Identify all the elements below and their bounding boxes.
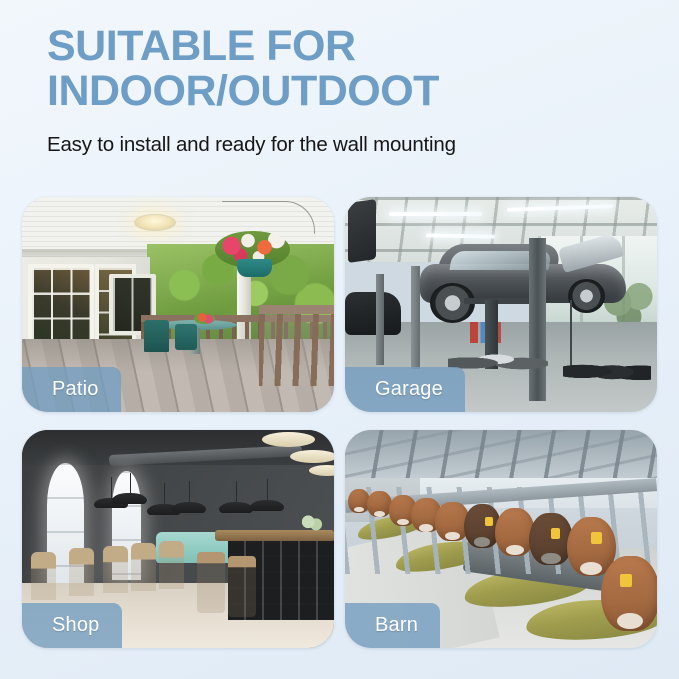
ceiling-wire — [222, 201, 316, 233]
tile-patio[interactable]: Patio — [22, 197, 334, 412]
page-subtitle: Easy to install and ready for the wall m… — [47, 132, 647, 158]
dining-chair — [31, 552, 56, 600]
ear-tag — [485, 517, 493, 526]
patio-chair-left — [144, 320, 169, 352]
fluorescent-tube — [389, 212, 483, 216]
tile-label-patio: Patio — [22, 367, 121, 412]
cow-dark-face — [529, 513, 573, 565]
ear-tag — [591, 532, 602, 544]
dining-chair — [69, 548, 94, 596]
tile-label-shop: Shop — [22, 603, 122, 648]
page-title: SUITABLE FOR INDOOR/OUTDOOT — [47, 24, 647, 114]
barn-roof-structure — [345, 430, 657, 478]
tile-garage[interactable]: Garage — [345, 197, 657, 412]
table-flowers — [194, 313, 216, 324]
fluorescent-tube — [426, 233, 495, 238]
pendant-light — [172, 502, 206, 513]
scene-tile-grid: Patio — [22, 197, 657, 648]
deck-railing-near — [259, 305, 334, 387]
disc-pendant-light — [309, 465, 334, 476]
tile-label-garage: Garage — [345, 367, 465, 412]
dining-chair — [131, 543, 156, 591]
cow-foreground — [601, 556, 657, 630]
lift-post-main — [529, 238, 546, 401]
lift-post-far — [376, 274, 384, 364]
ear-tag — [551, 528, 560, 539]
flower-pot — [237, 259, 271, 276]
lift-arm — [464, 298, 539, 304]
stacked-tires — [563, 356, 650, 384]
counter-plant — [297, 515, 325, 532]
overhead-panel — [348, 199, 376, 263]
bar-stool — [228, 556, 256, 617]
second-vehicle — [345, 292, 401, 335]
pendant-light — [112, 493, 146, 504]
disc-pendant-light — [290, 450, 334, 463]
pendant-light — [250, 500, 284, 511]
patio-chair-right — [175, 324, 197, 350]
tile-barn[interactable]: Barn — [345, 430, 657, 648]
ear-tag — [620, 574, 632, 587]
tile-shop[interactable]: Shop — [22, 430, 334, 648]
pendant-light — [219, 502, 253, 513]
dining-chair — [103, 546, 128, 594]
cow — [367, 491, 392, 517]
dining-chair — [159, 541, 184, 589]
tile-label-barn: Barn — [345, 603, 440, 648]
header-block: SUITABLE FOR INDOOR/OUTDOOT Easy to inst… — [47, 24, 647, 158]
bar-stool — [197, 552, 225, 613]
car-rear-wheel — [568, 279, 605, 313]
